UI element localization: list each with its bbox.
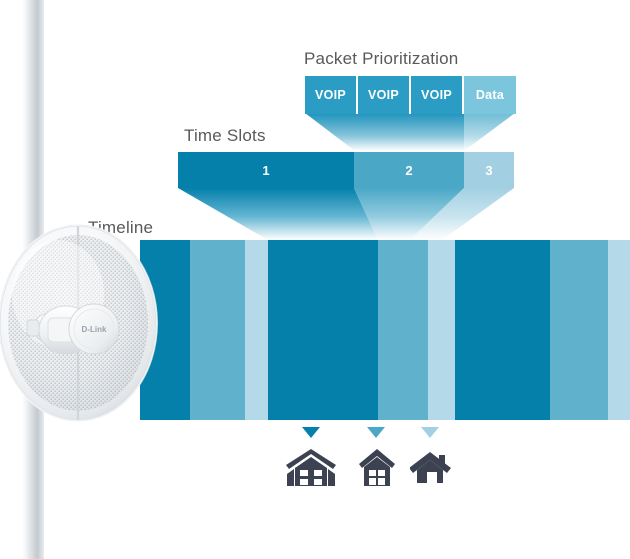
funnel-packets-to-slots <box>0 113 630 151</box>
timeline-bar-slot1 <box>455 240 550 420</box>
arrow-slot-2-icon <box>367 427 385 438</box>
house-townhouse-icon <box>357 448 397 488</box>
timeline-bar-slot2 <box>190 240 245 420</box>
house-duplex-icon <box>285 448 337 488</box>
packet-voip-2[interactable]: VOIP <box>358 76 411 114</box>
timeline-bar-slot1 <box>268 240 378 420</box>
house-small-icon <box>410 450 454 484</box>
packet-prioritization-label: Packet Prioritization <box>304 49 458 69</box>
timeline-group-2 <box>268 240 460 420</box>
packet-data[interactable]: Data <box>464 76 516 114</box>
timeline-bar-slot3 <box>608 240 630 420</box>
time-slot-3[interactable]: 3 <box>464 152 514 188</box>
parabolic-dish-antenna-icon: D-Link <box>0 222 166 432</box>
device-brand-label: D-Link <box>82 325 107 334</box>
packet-voip-3[interactable]: VOIP <box>411 76 464 114</box>
packet-prioritization-row: VOIP VOIP VOIP Data <box>305 76 516 114</box>
diagram-canvas: 1 2 3 VOIP VOIP VOIP Data Packet Priorit… <box>0 0 630 559</box>
time-slot-1[interactable]: 1 <box>178 152 354 188</box>
time-slot-2[interactable]: 2 <box>354 152 464 188</box>
timeline-group-3 <box>455 240 630 420</box>
time-slots-row: 1 2 3 <box>178 152 514 188</box>
timeline-bar-slot2 <box>550 240 608 420</box>
timeline-bar-slot2 <box>378 240 428 420</box>
arrow-slot-1-icon <box>302 427 320 438</box>
packet-voip-1[interactable]: VOIP <box>305 76 358 114</box>
time-slots-label: Time Slots <box>184 126 266 146</box>
arrow-slot-3-icon <box>421 427 439 438</box>
